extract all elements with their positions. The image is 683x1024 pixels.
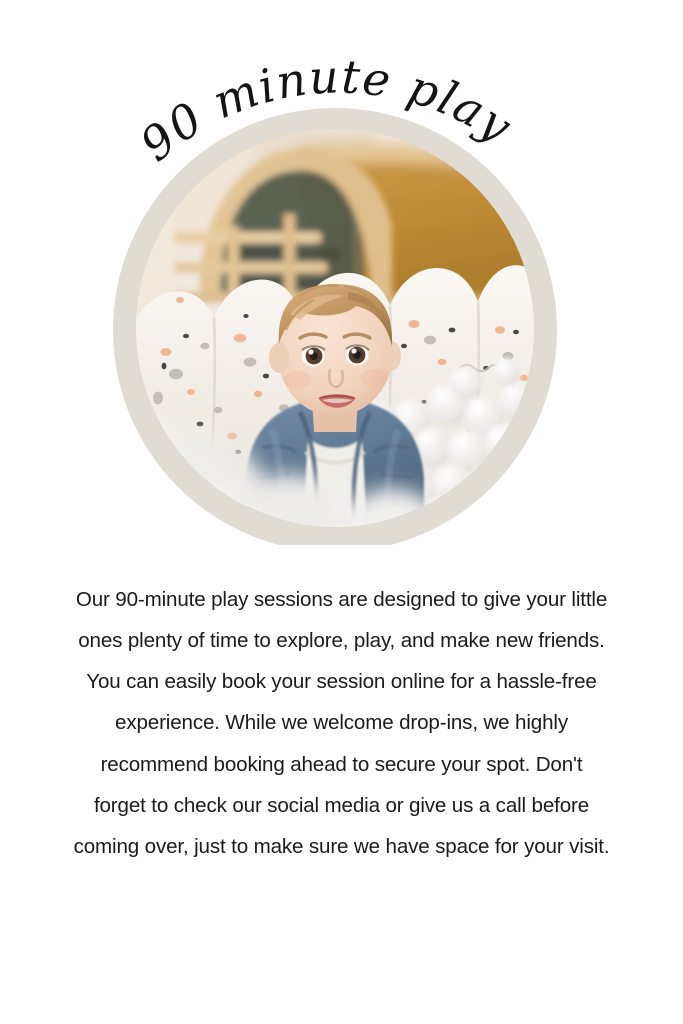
description-paragraph: Our 90-minute play sessions are designed… (72, 579, 611, 868)
hero-graphic: 90 minute play (0, 0, 683, 545)
page-root: 90 minute play Our 90-minute play sessio… (0, 0, 683, 1024)
hero-section: 90 minute play (0, 0, 683, 545)
